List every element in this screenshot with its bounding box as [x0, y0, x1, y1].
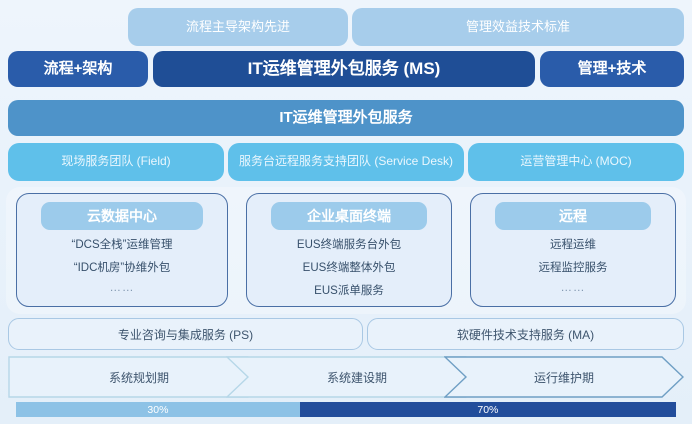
phase-3-label: 运行维护期 [534, 369, 594, 386]
service-card-1-item-3: …… [110, 282, 135, 294]
service-pill-3-label: 管理+技术 [578, 60, 647, 77]
service-pill-management-technology[interactable]: 管理+技术 [540, 51, 684, 87]
phase-1-label: 系统规划期 [109, 369, 169, 386]
team-pill-field[interactable]: 现场服务团队 (Field) [8, 143, 224, 181]
service-card-3-item-3: …… [561, 282, 586, 294]
service-card-remote[interactable]: 远程 远程运维 远程监控服务 …… [470, 193, 676, 307]
support-pill-1-label: 专业咨询与集成服务 (PS) [118, 326, 253, 343]
service-card-2-title: 企业桌面终端 [271, 202, 427, 230]
value-pill-1[interactable]: 流程主导架构先进 [128, 8, 348, 46]
support-pill-ps[interactable]: 专业咨询与集成服务 (PS) [8, 318, 363, 350]
phase-2-label: 系统建设期 [327, 369, 387, 386]
value-pill-2-label: 管理效益技术标准 [466, 20, 570, 35]
team-pill-1-label: 现场服务团队 (Field) [61, 155, 170, 169]
service-pill-ms[interactable]: IT运维管理外包服务 (MS) [153, 51, 535, 87]
service-card-2-item-2: EUS终端整体外包 [303, 259, 396, 275]
progress-segment-30-label: 30% [147, 404, 168, 416]
service-card-1-items: “DCS全栈”运维管理 “IDC机房”协维外包 …… [23, 236, 221, 300]
service-card-3-title: 远程 [495, 202, 651, 230]
service-card-2-item-3: EUS派单服务 [314, 282, 384, 298]
service-card-3-item-2: 远程监控服务 [539, 259, 608, 275]
team-pill-3-label: 运营管理中心 (MOC) [520, 155, 631, 169]
master-service-bar-label: IT运维管理外包服务 [279, 109, 412, 126]
service-pill-1-label: 流程+架构 [44, 60, 113, 77]
service-pill-process-architecture[interactable]: 流程+架构 [8, 51, 148, 87]
progress-segment-70-label: 70% [477, 404, 498, 416]
service-card-cloud-datacenter[interactable]: 云数据中心 “DCS全栈”运维管理 “IDC机房”协维外包 …… [16, 193, 228, 307]
support-pill-ma[interactable]: 软硬件技术支持服务 (MA) [367, 318, 684, 350]
progress-bar[interactable]: 30% 70% [16, 402, 676, 417]
service-card-1-item-1: “DCS全栈”运维管理 [72, 236, 173, 252]
value-pill-2[interactable]: 管理效益技术标准 [352, 8, 684, 46]
phase-chevron-operation[interactable]: 运行维护期 [444, 356, 684, 398]
progress-segment-30[interactable]: 30% [16, 402, 300, 417]
progress-segment-70[interactable]: 70% [300, 402, 676, 417]
service-card-1-item-2: “IDC机房”协维外包 [74, 259, 170, 275]
service-card-enterprise-desktop[interactable]: 企业桌面终端 EUS终端服务台外包 EUS终端整体外包 EUS派单服务 [246, 193, 452, 307]
team-pill-service-desk[interactable]: 服务台远程服务支持团队 (Service Desk) [228, 143, 464, 181]
team-pill-moc[interactable]: 运营管理中心 (MOC) [468, 143, 684, 181]
phase-chevron-row: 系统规划期 系统建设期 运行维护期 [8, 356, 684, 398]
value-pill-1-label: 流程主导架构先进 [186, 20, 290, 35]
service-card-3-items: 远程运维 远程监控服务 …… [477, 236, 669, 300]
support-pill-2-label: 软硬件技术支持服务 (MA) [457, 326, 594, 343]
service-card-2-items: EUS终端服务台外包 EUS终端整体外包 EUS派单服务 [253, 236, 445, 300]
service-pill-2-label: IT运维管理外包服务 (MS) [248, 59, 441, 79]
service-card-3-item-1: 远程运维 [550, 236, 596, 252]
master-service-bar[interactable]: IT运维管理外包服务 [8, 100, 684, 136]
service-card-2-item-1: EUS终端服务台外包 [297, 236, 401, 252]
service-card-1-title: 云数据中心 [41, 202, 203, 230]
diagram-canvas: 流程主导架构先进 管理效益技术标准 流程+架构 IT运维管理外包服务 (MS) … [0, 0, 692, 424]
team-pill-2-label: 服务台远程服务支持团队 (Service Desk) [239, 155, 453, 169]
